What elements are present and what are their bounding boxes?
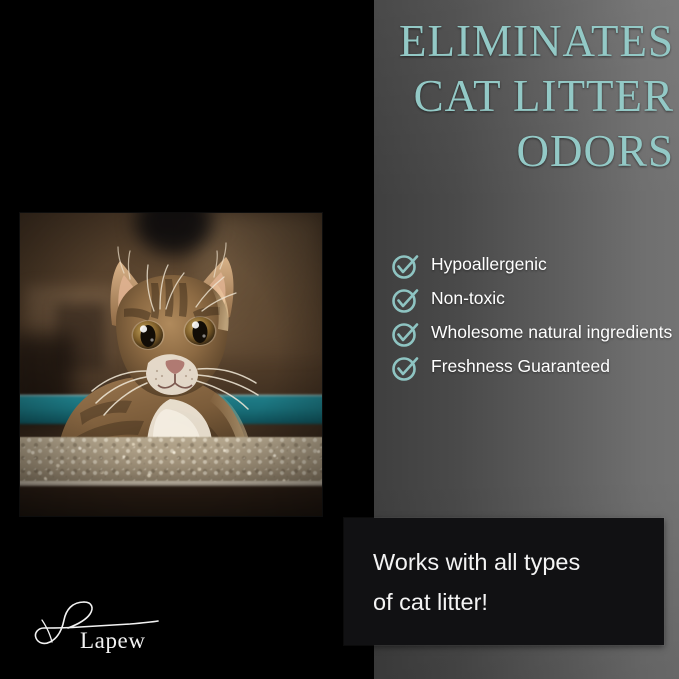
brand-logo: Lapew	[24, 598, 204, 664]
benefit-label: Freshness Guaranteed	[431, 352, 610, 380]
circle-check-icon	[390, 251, 420, 281]
kitten-litter-box-photo	[20, 213, 322, 516]
headline-line-2: CAT LITTER	[352, 69, 674, 124]
circle-check-icon	[390, 319, 420, 349]
callout-line-1: Works with all types	[373, 542, 641, 582]
benefit-item: Non-toxic	[390, 284, 675, 315]
circle-check-icon	[390, 285, 420, 315]
photo-litterbox-body	[20, 486, 322, 516]
benefit-item: Freshness Guaranteed	[390, 352, 675, 383]
benefit-item: Hypoallergenic	[390, 250, 675, 281]
headline: ELIMINATES CAT LITTER ODORS	[352, 14, 674, 179]
circle-check-icon	[390, 353, 420, 383]
brand-name: Lapew	[80, 628, 146, 654]
headline-line-3: ODORS	[352, 124, 674, 179]
callout-text: Works with all types of cat litter!	[373, 542, 641, 622]
benefit-label: Non-toxic	[431, 284, 505, 312]
product-ad-banner: ELIMINATES CAT LITTER ODORS Hypoallergen…	[0, 0, 679, 679]
callout-box: Works with all types of cat litter!	[344, 518, 664, 645]
benefit-label: Wholesome natural ingredients	[431, 318, 672, 346]
benefit-label: Hypoallergenic	[431, 250, 547, 278]
callout-line-2: of cat litter!	[373, 582, 641, 622]
headline-line-1: ELIMINATES	[352, 14, 674, 69]
benefit-item: Wholesome natural ingredients	[390, 318, 675, 349]
benefits-list: Hypoallergenic Non-toxic Wholesome natur…	[390, 250, 675, 386]
